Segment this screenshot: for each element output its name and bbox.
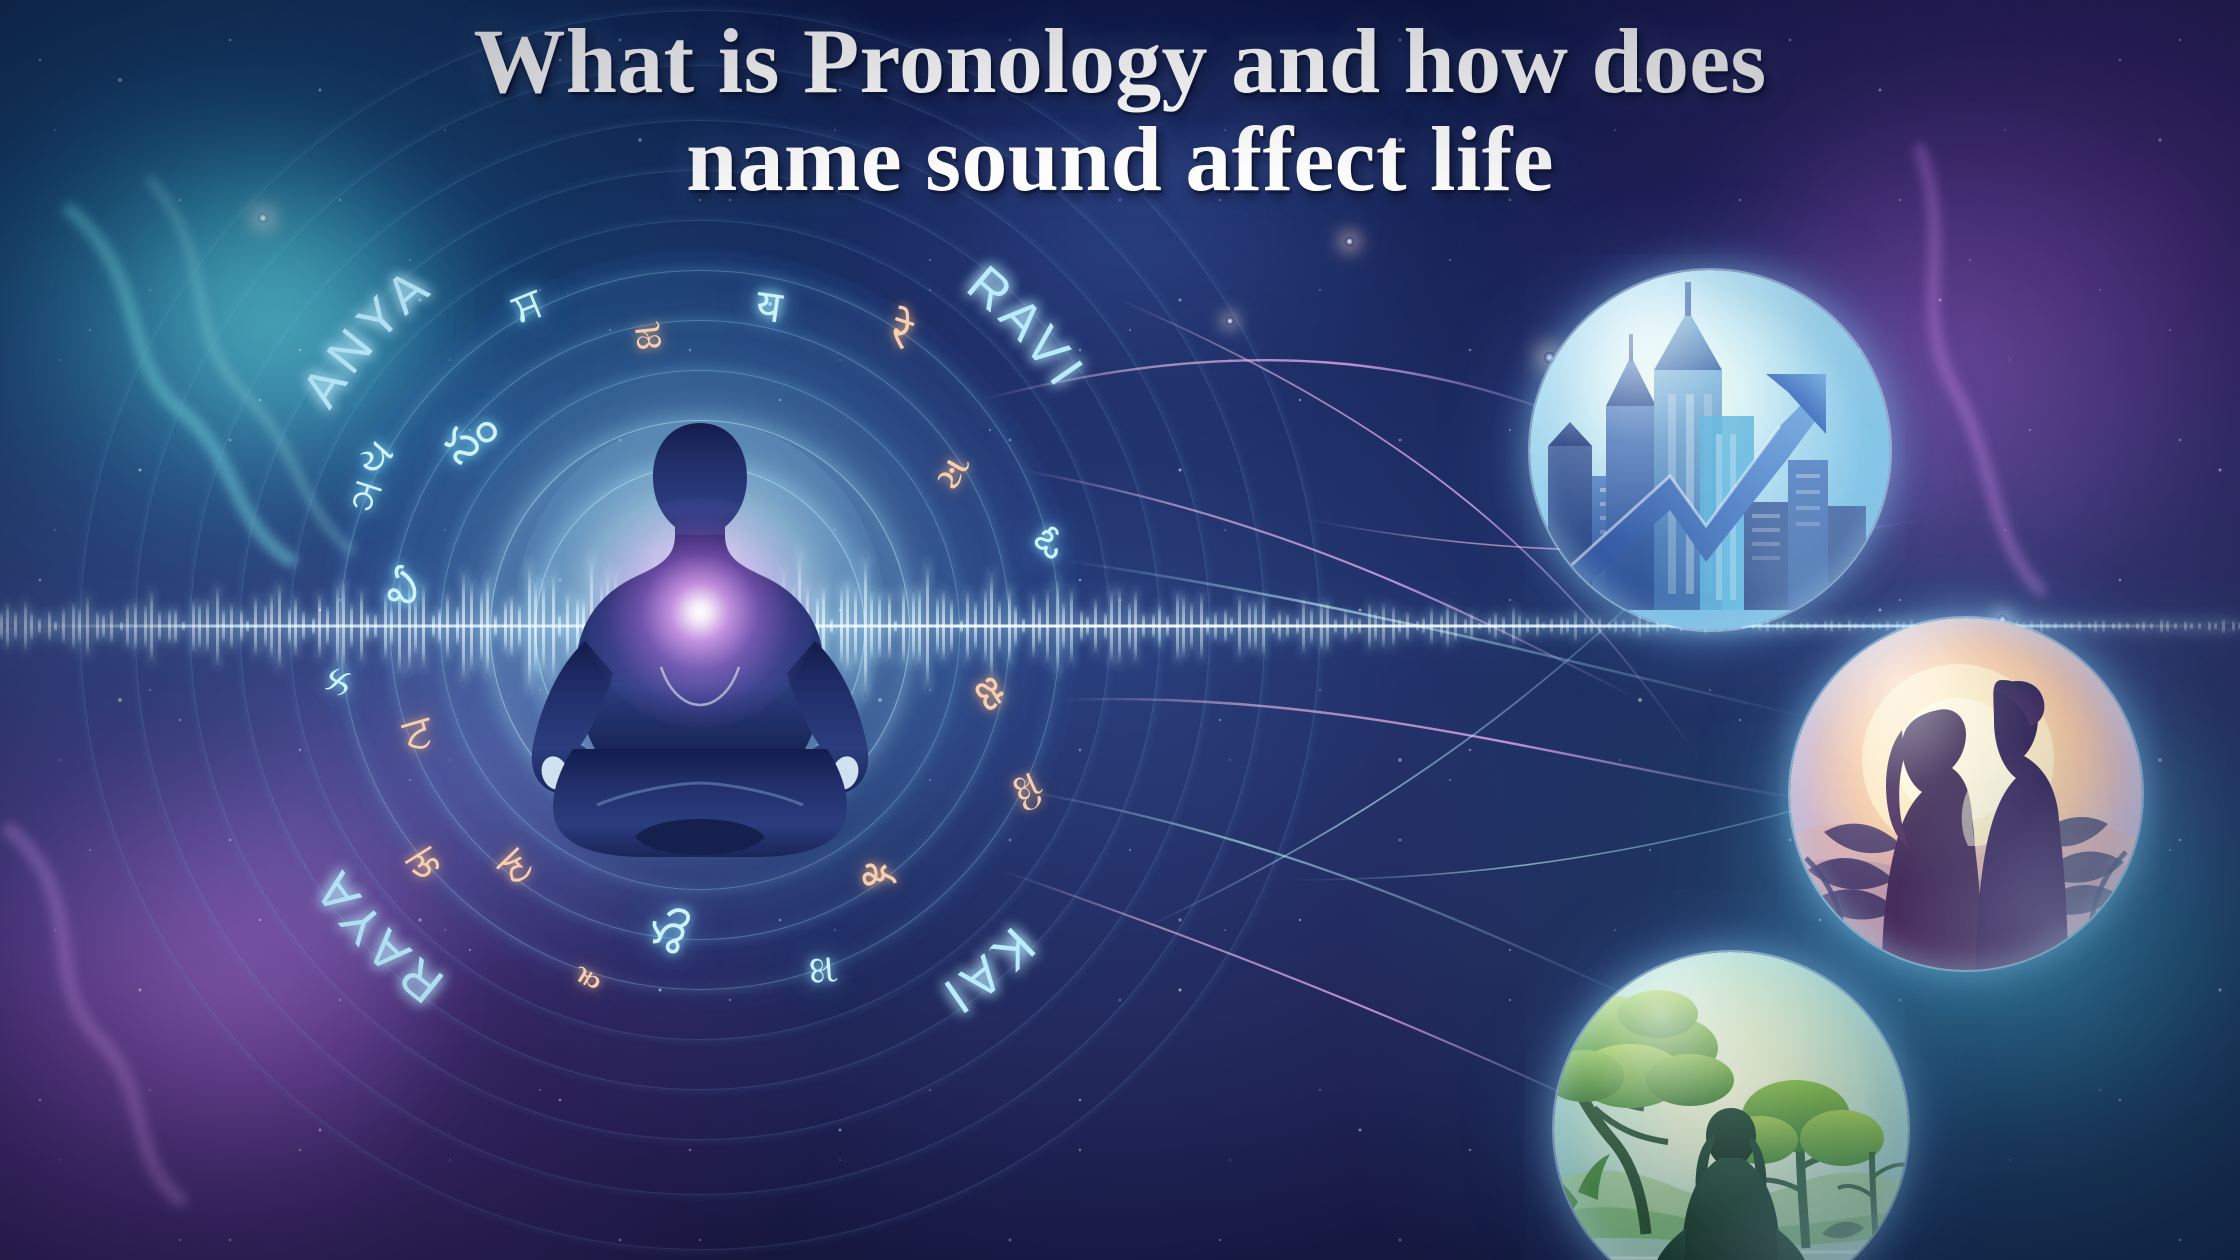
sphere-love-relationships <box>1790 618 2142 970</box>
cosmic-banner-image: ANYA RAVI RAYA KAI यरेಹਸసంયಸఓఙಹುశಹమಕਣऊਟક… <box>0 0 2240 1260</box>
sphere-career-success <box>1530 270 1890 630</box>
sphere-peace-wellbeing <box>1554 952 1908 1260</box>
meditating-lotus-silhouette <box>485 405 915 875</box>
star-flare-orange <box>1345 237 1354 246</box>
